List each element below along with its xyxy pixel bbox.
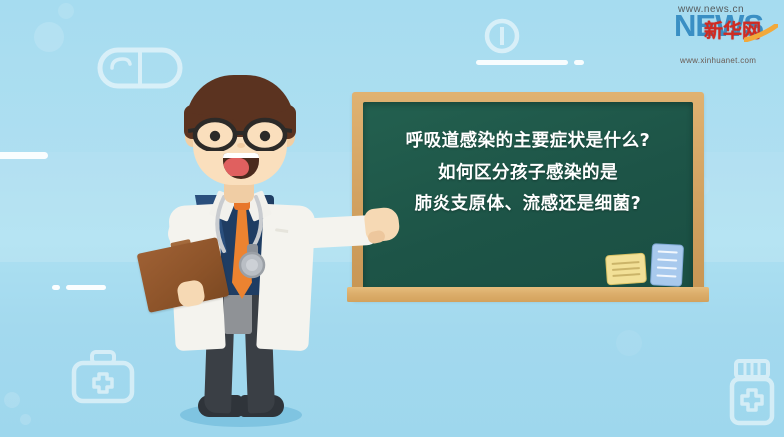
decor-line-center — [476, 60, 568, 65]
doctor-tongue — [223, 158, 249, 176]
blackboard-text: 呼吸道感染的主要症状是什么? 如何区分孩子感染的是 肺炎支原体、流感还是细菌? — [363, 126, 693, 221]
blackboard: 呼吸道感染的主要症状是什么? 如何区分孩子感染的是 肺炎支原体、流感还是细菌? — [352, 92, 704, 300]
xinhua-logo: www.news.cn NEWS 新华网 www.xinhuanet.com — [670, 4, 778, 66]
blackboard-line-2: 如何区分孩子感染的是 — [363, 158, 693, 190]
blackboard-line-1: 呼吸道感染的主要症状是什么? — [363, 126, 693, 158]
yellow-sticky-note — [605, 253, 647, 286]
blackboard-line-3: 肺炎支原体、流感还是细菌? — [363, 189, 693, 221]
scene-root: 呼吸道感染的主要症状是什么? 如何区分孩子感染的是 肺炎支原体、流感还是细菌? — [0, 0, 784, 437]
decor-line-midleft — [52, 285, 60, 290]
decor-line-center-dash — [574, 60, 584, 65]
medicine-bottle-icon — [726, 358, 778, 430]
background-circle-2 — [58, 3, 74, 19]
background-circle-1 — [34, 22, 64, 52]
decor-line-midleft-long — [66, 285, 106, 290]
logo-bottom-text: www.xinhuanet.com — [680, 56, 756, 65]
eyeglasses-icon — [188, 117, 292, 151]
blue-sticky-note — [650, 243, 684, 287]
thermometer-icon — [482, 16, 522, 56]
logo-swoosh-icon — [744, 24, 778, 42]
blackboard-surface: 呼吸道感染的主要症状是什么? 如何区分孩子感染的是 肺炎支原体、流感还是细菌? — [363, 102, 693, 289]
background-circle-4 — [20, 414, 31, 425]
background-circle-5 — [616, 330, 642, 356]
decor-line-left — [0, 152, 48, 159]
background-circle-3 — [4, 392, 20, 408]
doctor-character — [120, 55, 370, 437]
blackboard-ledge — [347, 287, 709, 302]
